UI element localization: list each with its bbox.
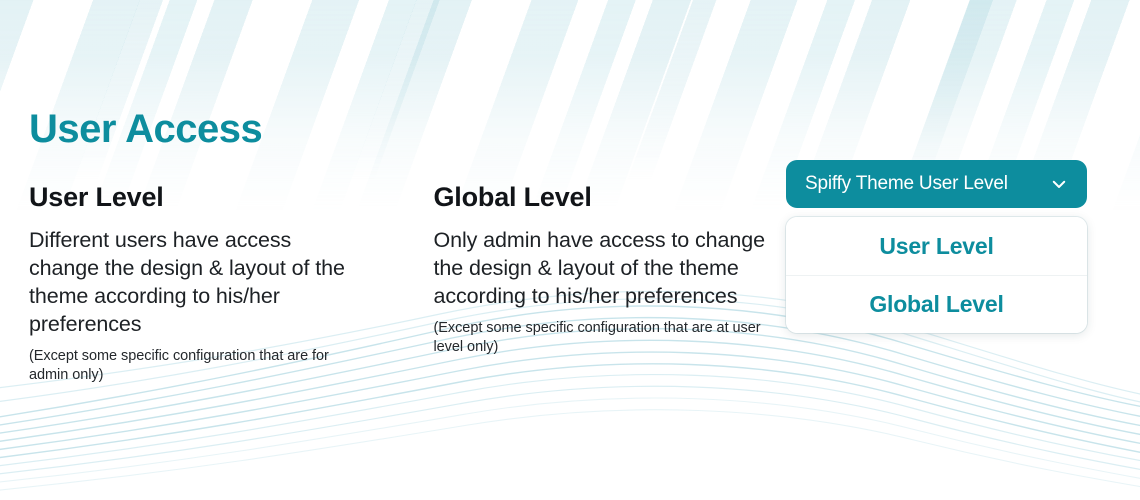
column-global-level: Global Level Only admin have access to c… — [434, 182, 770, 385]
dropdown-toggle-button[interactable]: Spiffy Theme User Level — [786, 160, 1087, 208]
column-heading: Global Level — [434, 182, 770, 213]
slide-content: User Access User Level Different users h… — [0, 0, 1140, 500]
column-heading: User Level — [29, 182, 365, 213]
dropdown-options-list: User Level Global Level — [786, 217, 1087, 333]
column-note-text: (Except some specific configuration that… — [29, 347, 365, 385]
column-body-text: Different users have access change the d… — [29, 226, 365, 338]
dropdown-option-global-level[interactable]: Global Level — [786, 275, 1087, 333]
column-user-level: User Level Different users have access c… — [29, 182, 365, 385]
chevron-down-icon — [1050, 175, 1068, 193]
dropdown-option-user-level[interactable]: User Level — [786, 217, 1087, 275]
page-title: User Access — [29, 107, 262, 151]
info-columns: User Level Different users have access c… — [29, 182, 769, 385]
column-note-text: (Except some specific configuration that… — [434, 319, 770, 357]
column-body-text: Only admin have access to change the des… — [434, 226, 770, 310]
user-level-dropdown: Spiffy Theme User Level User Level Globa… — [786, 160, 1087, 333]
dropdown-selected-label: Spiffy Theme User Level — [805, 173, 1008, 195]
slide-canvas: User Access User Level Different users h… — [0, 0, 1140, 500]
